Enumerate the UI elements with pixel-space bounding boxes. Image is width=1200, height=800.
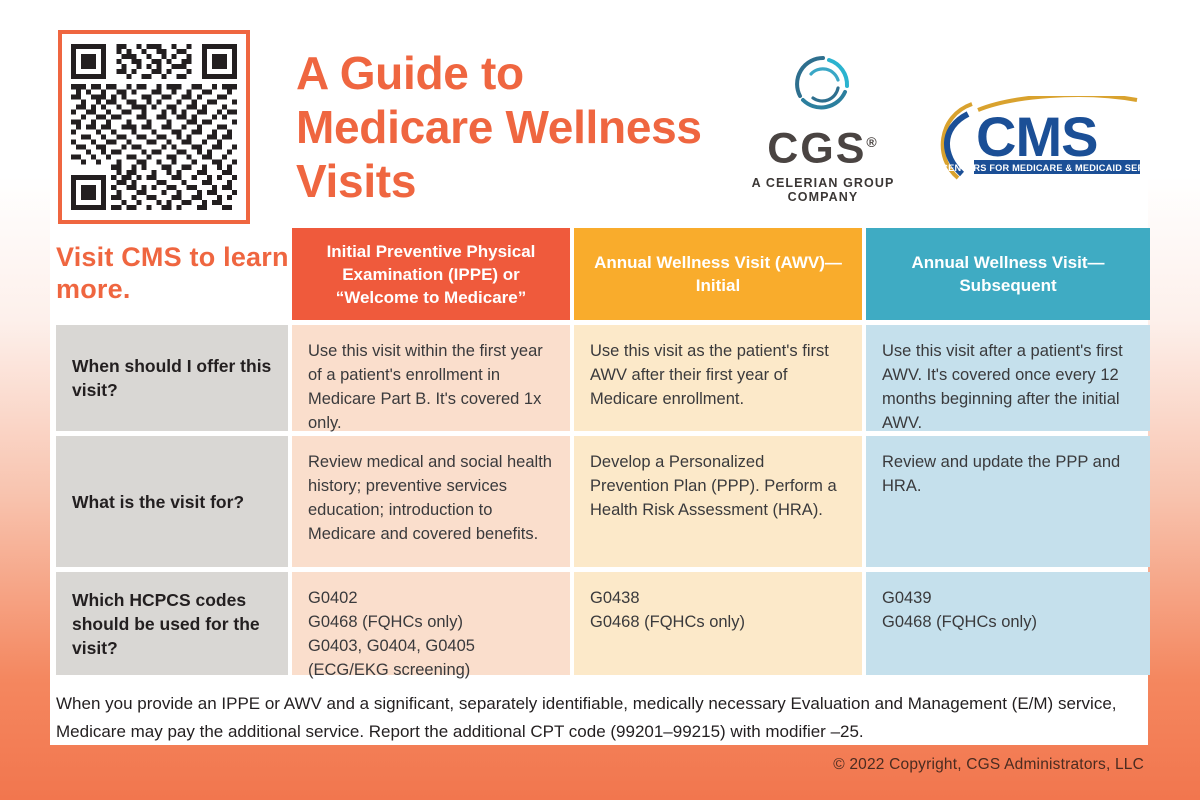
- cgs-tagline: A CELERIAN GROUP COMPANY: [716, 176, 930, 204]
- header-ippe: Initial Preventive Physical Examination …: [292, 228, 570, 320]
- cell-ippe: Review medical and social health history…: [292, 436, 570, 567]
- cell-awv-subsequent: Review and update the PPP and HRA.: [866, 436, 1150, 567]
- cell-awv-subsequent: Use this visit after a patient's first A…: [866, 325, 1150, 431]
- table-header-row: Initial Preventive Physical Examination …: [56, 228, 1146, 320]
- cell-ippe: Use this visit within the first year of …: [292, 325, 570, 431]
- row-label: What is the visit for?: [56, 436, 288, 567]
- cell-awv-subsequent: G0439 G0468 (FQHCs only): [866, 572, 1150, 675]
- cgs-word-text: CGS: [767, 124, 866, 172]
- wellness-visit-table: Initial Preventive Physical Examination …: [56, 228, 1146, 680]
- header-blank-cell: [56, 228, 288, 320]
- cgs-registered-mark: ®: [866, 134, 878, 150]
- cell-awv-initial: G0438 G0468 (FQHCs only): [574, 572, 862, 675]
- page-title: A Guide to Medicare Wellness Visits: [296, 46, 716, 208]
- cell-ippe: G0402 G0468 (FQHCs only) G0403, G0404, G…: [292, 572, 570, 675]
- header-awv-initial: Annual Wellness Visit (AWV)—Initial: [574, 228, 862, 320]
- cms-logo: CMS CENTERS FOR MEDICARE & MEDICAID SERV…: [932, 96, 1146, 184]
- footer-note: When you provide an IPPE or AWV and a si…: [56, 690, 1136, 746]
- poster: Visit CMS to learn more. A Guide to Medi…: [0, 0, 1200, 800]
- header-awv-subsequent: Annual Wellness Visit—Subsequent: [866, 228, 1150, 320]
- table-row: Which HCPCS codes should be used for the…: [56, 572, 1146, 675]
- cgs-swirl-icon: [791, 52, 855, 116]
- table-row: What is the visit for? Review medical an…: [56, 436, 1146, 567]
- svg-text:CENTERS FOR MEDICARE & MEDICAI: CENTERS FOR MEDICARE & MEDICAID SERVICES: [941, 163, 1146, 173]
- qr-code[interactable]: [58, 30, 250, 224]
- row-label: Which HCPCS codes should be used for the…: [56, 572, 288, 675]
- cell-awv-initial: Use this visit as the patient's first AW…: [574, 325, 862, 431]
- row-label: When should I offer this visit?: [56, 325, 288, 431]
- cgs-logo: CGS® A CELERIAN GROUP COMPANY: [716, 52, 930, 204]
- cgs-wordmark: CGS®: [716, 120, 930, 170]
- svg-text:CMS: CMS: [976, 105, 1097, 168]
- copyright-text: © 2022 Copyright, CGS Administrators, LL…: [833, 756, 1144, 774]
- qr-code-image: [71, 44, 237, 210]
- cell-awv-initial: Develop a Personalized Prevention Plan (…: [574, 436, 862, 567]
- cms-logo-image: CMS CENTERS FOR MEDICARE & MEDICAID SERV…: [932, 96, 1146, 184]
- table-row: When should I offer this visit? Use this…: [56, 325, 1146, 431]
